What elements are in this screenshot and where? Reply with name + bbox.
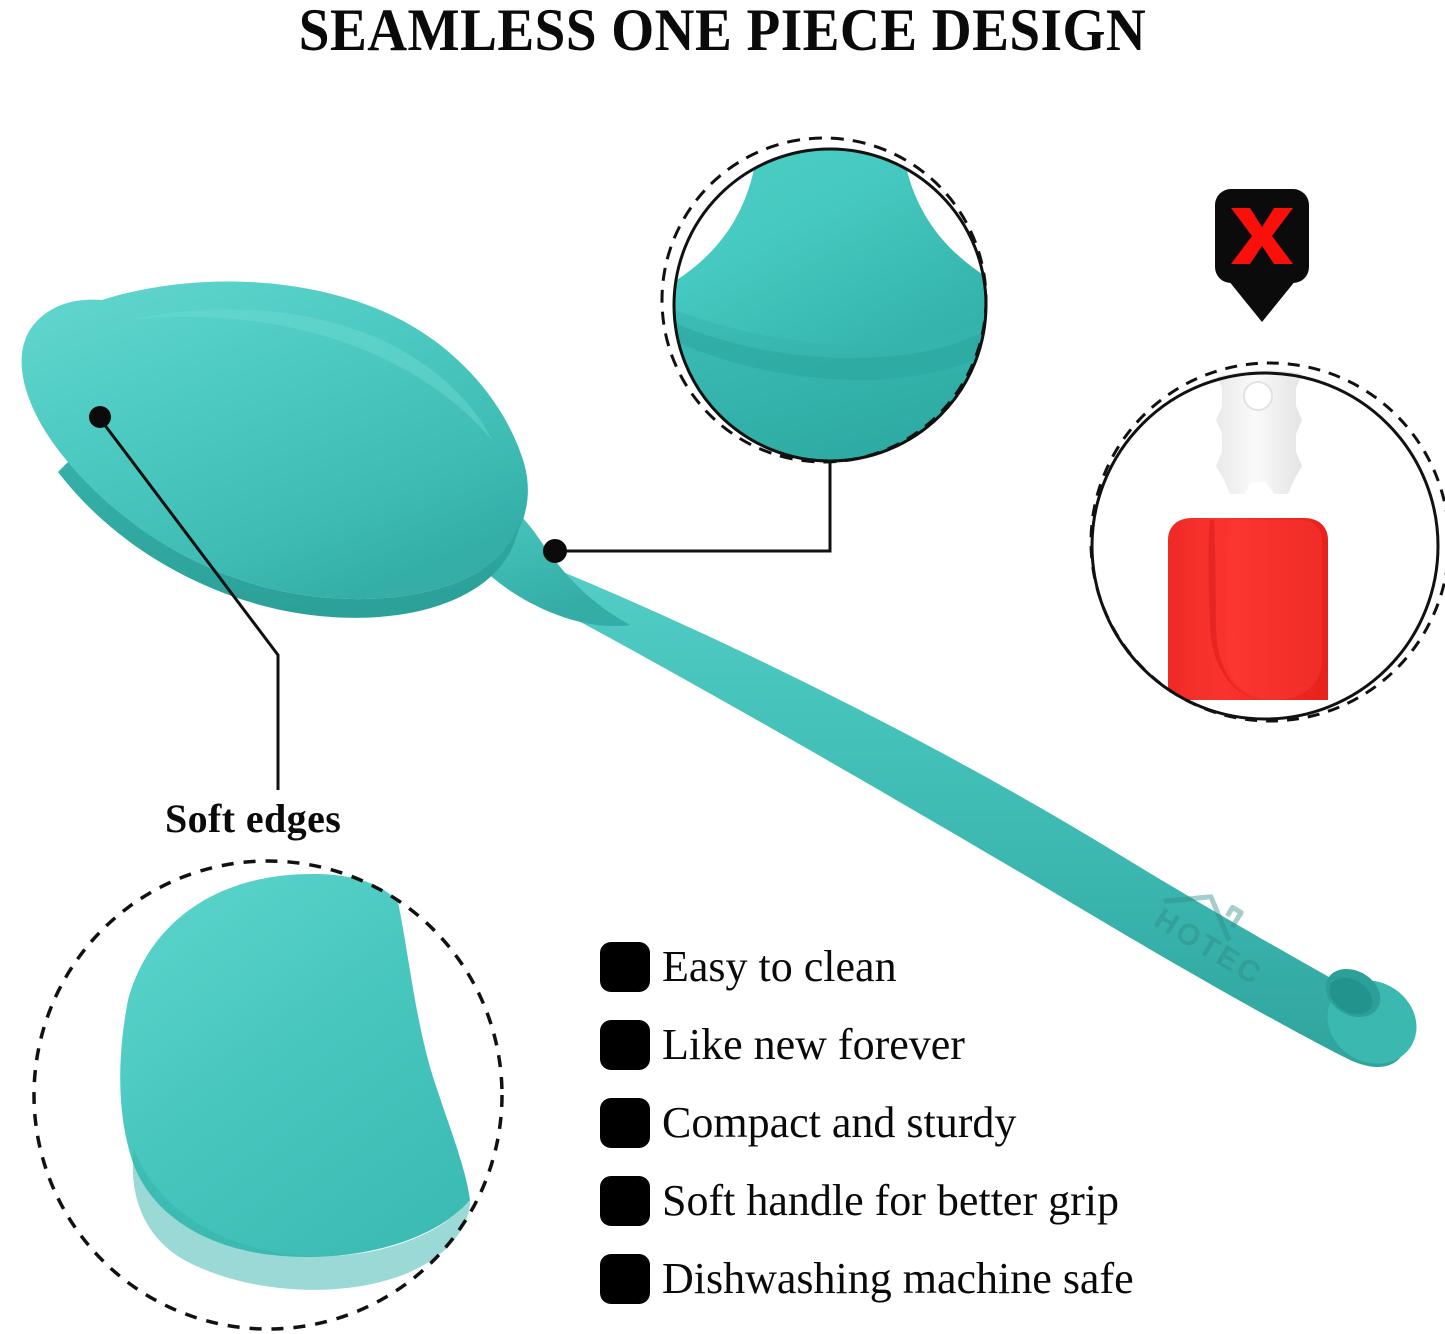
list-item: Easy to clean (600, 928, 1300, 1006)
seamless-joint-anchor-dot (543, 539, 567, 563)
filled-square-bullet-icon (600, 1254, 650, 1304)
feature-label: Compact and sturdy (662, 1101, 1016, 1145)
list-item: Dishwashing machine safe (600, 1240, 1300, 1318)
right-zoom-inset (1085, 330, 1445, 725)
detachable-plastic-insert (1216, 330, 1302, 494)
red-head-highlight (1226, 520, 1322, 700)
list-item: Like new forever (600, 1006, 1300, 1084)
list-item: Soft handle for better grip (600, 1162, 1300, 1240)
filled-square-bullet-icon (600, 1176, 650, 1226)
bottom-left-zoom-inset (20, 855, 520, 1334)
feature-list: Easy to clean Like new forever Compact a… (600, 928, 1300, 1318)
filled-square-bullet-icon (600, 1098, 650, 1148)
soft-edges-anchor-dot (89, 406, 111, 428)
feature-label: Easy to clean (662, 945, 897, 989)
filled-square-bullet-icon (600, 1020, 650, 1070)
soft-edges-label: Soft edges (165, 795, 341, 842)
top-zoom-inset (650, 110, 1012, 500)
insert-hole (1244, 382, 1272, 410)
feature-label: Like new forever (662, 1023, 965, 1067)
feature-label: Soft handle for better grip (662, 1179, 1119, 1223)
list-item: Compact and sturdy (600, 1084, 1300, 1162)
seamless-joint-callout-leader (543, 462, 830, 563)
warning-badge (1215, 189, 1309, 322)
spatula-head (22, 281, 528, 599)
down-triangle-pointer (1228, 280, 1296, 322)
seamless-joint-leader-line (566, 462, 830, 551)
detached-red-silicone-head (1168, 518, 1328, 700)
feature-label: Dishwashing machine safe (662, 1257, 1134, 1301)
filled-square-bullet-icon (600, 942, 650, 992)
product-infographic: SEAMLESS ONE PIECE DESIGN (0, 0, 1445, 1334)
